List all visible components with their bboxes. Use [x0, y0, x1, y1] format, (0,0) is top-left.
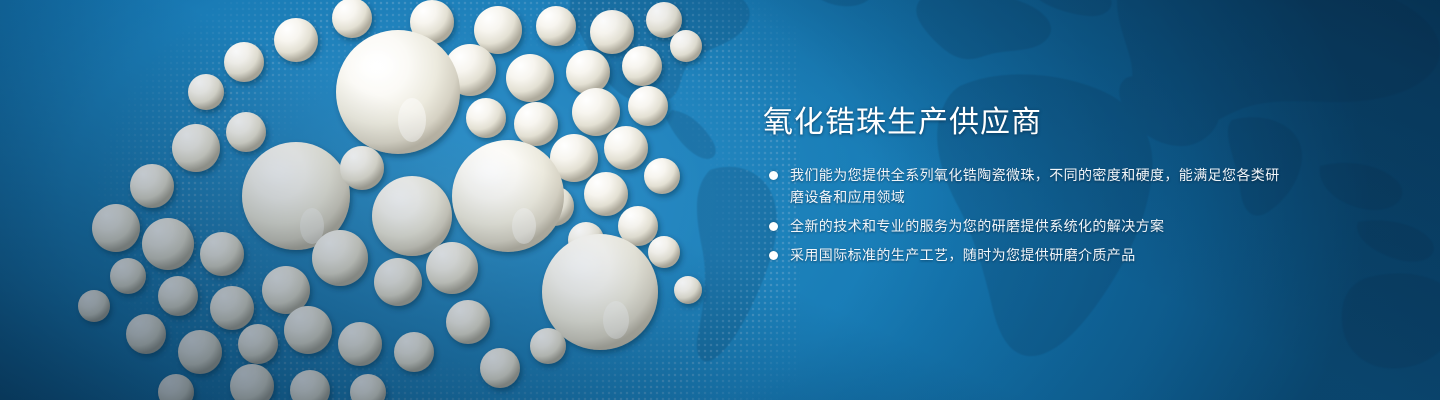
benefits-list: 我们能为您提供全系列氧化锆陶瓷微珠，不同的密度和硬度，能满足您各类研磨设备和应用… [763, 164, 1283, 266]
benefit-item-2: 全新的技术和专业的服务为您的研磨提供系统化的解决方案 [763, 215, 1283, 237]
benefit-item-1: 我们能为您提供全系列氧化锆陶瓷微珠，不同的密度和硬度，能满足您各类研磨设备和应用… [763, 164, 1283, 208]
benefit-text-2: 全新的技术和专业的服务为您的研磨提供系统化的解决方案 [790, 218, 1164, 234]
benefit-text-3: 采用国际标准的生产工艺，随时为您提供研磨介质产品 [790, 247, 1136, 263]
bullet-circle-icon [769, 222, 778, 231]
banner-headline: 氧化锆珠生产供应商 [763, 104, 1283, 142]
benefit-text-1: 我们能为您提供全系列氧化锆陶瓷微珠，不同的密度和硬度，能满足您各类研磨设备和应用… [790, 167, 1280, 205]
bullet-circle-icon [769, 251, 778, 260]
hero-banner: 氧化锆珠生产供应商 我们能为您提供全系列氧化锆陶瓷微珠，不同的密度和硬度，能满足… [0, 0, 1440, 400]
banner-copy: 氧化锆珠生产供应商 我们能为您提供全系列氧化锆陶瓷微珠，不同的密度和硬度，能满足… [763, 104, 1283, 266]
bullet-circle-icon [769, 171, 778, 180]
benefit-item-3: 采用国际标准的生产工艺，随时为您提供研磨介质产品 [763, 244, 1283, 266]
